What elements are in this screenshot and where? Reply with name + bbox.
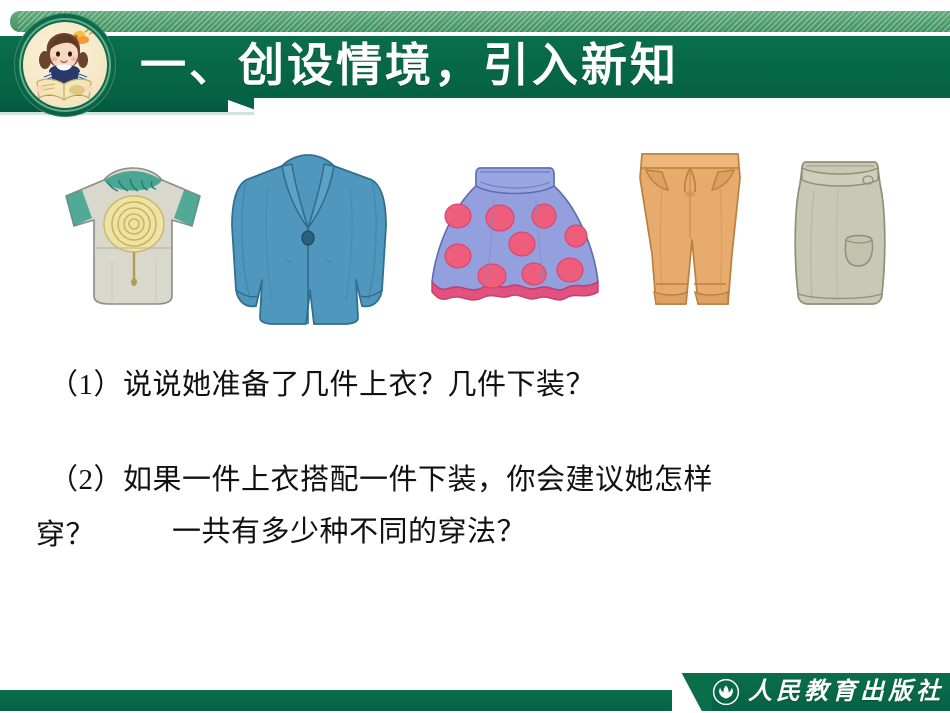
footer-bar-left (0, 690, 712, 711)
question-2-line-1: （2）如果一件上衣搭配一件下装，你会建议她怎样 (49, 461, 713, 499)
question-2-line-2b: 一共有多少种不同的穿法？ (172, 513, 526, 551)
garment-jacket (222, 150, 394, 335)
header-stripe-band (18, 11, 950, 32)
olive-skirt-icon (788, 154, 892, 316)
slide-canvas: 一、创设情境，引入新知 (0, 0, 950, 713)
garment-gallery (0, 136, 950, 326)
garment-polka-skirt (424, 160, 606, 325)
pep-logo-icon (712, 678, 740, 706)
publisher-name: 人民教育出版社 (748, 676, 944, 708)
question-2-line-2a: 穿？ (36, 516, 95, 554)
garment-tshirt (52, 162, 214, 322)
avatar-portrait (23, 22, 107, 108)
page-title: 一、创设情境，引入新知 (140, 36, 679, 98)
question-1: （1）说说她准备了几件上衣？几件下装？ (49, 366, 595, 404)
tshirt-icon (52, 162, 214, 317)
girl-reading-icon (23, 22, 107, 108)
garment-olive-skirt (788, 154, 892, 321)
pants-icon (628, 144, 752, 324)
polka-skirt-icon (424, 160, 606, 320)
slide-footer: 人民教育出版社 (0, 660, 950, 713)
garment-pants (628, 144, 752, 329)
avatar (14, 13, 116, 117)
slide-header: 一、创设情境，引入新知 (0, 0, 950, 130)
footer-bar-step (672, 673, 712, 711)
jacket-icon (222, 150, 394, 330)
header-band-notch (228, 98, 254, 112)
